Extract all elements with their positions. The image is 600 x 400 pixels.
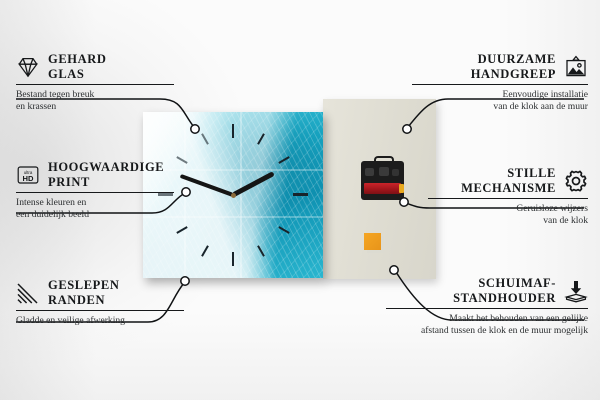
feature-description: en krassen <box>16 101 174 112</box>
ultra-hd-icon: ultra HD <box>16 163 40 187</box>
leader-dot-schuimaf-standhouder <box>390 266 398 274</box>
feature-title: GESLEPEN <box>48 278 120 293</box>
foam-spacer-icon <box>564 279 588 303</box>
leader-dot-hoogwaardige-print <box>182 188 190 196</box>
gear-icon <box>564 169 588 193</box>
feature-title: DUURZAME <box>471 52 556 67</box>
svg-text:HD: HD <box>23 174 34 183</box>
feature-description: afstand tussen de klok en de muur mogeli… <box>386 325 588 336</box>
feature-description: Maakt het behouden van een gelijke <box>386 313 588 324</box>
feature-title: HOOGWAARDIGE <box>48 160 164 175</box>
beveled-edge-icon <box>16 281 40 305</box>
feature-description: van de klok aan de muur <box>412 101 588 112</box>
feature-title: MECHANISME <box>461 181 556 196</box>
feature-title: GEHARD <box>48 52 106 67</box>
feature-duurzame-handgreep[interactable]: DUURZAME HANDGREEP Eenvoudige installati… <box>412 52 588 112</box>
feature-description: Eenvoudige installatie <box>412 89 588 100</box>
feature-gehard-glas[interactable]: GEHARD GLAS Bestand tegen breuk en krass… <box>16 52 174 112</box>
feature-title: PRINT <box>48 175 164 190</box>
divider <box>412 84 588 85</box>
feature-description: Bestand tegen breuk <box>16 89 174 100</box>
feature-title: SCHUIMAF- <box>453 276 556 291</box>
feature-title: GLAS <box>48 67 106 82</box>
feature-title: RANDEN <box>48 293 120 308</box>
feature-hoogwaardige-print[interactable]: ultra HD HOOGWAARDIGE PRINT Intense kleu… <box>16 160 174 220</box>
feature-description: Gladde en veilige afwerking <box>16 315 184 326</box>
leader-dot-stille-mechanisme <box>400 198 408 206</box>
feature-description: Geruisloze wijzers <box>428 203 588 214</box>
feature-schuimaf-standhouder[interactable]: SCHUIMAF- STANDHOUDER Maakt het behouden… <box>386 276 588 336</box>
divider <box>16 310 184 311</box>
infographic-canvas: GEHARD GLAS Bestand tegen breuk en krass… <box>0 0 600 400</box>
feature-description: Intense kleuren en <box>16 197 174 208</box>
feature-title: STILLE <box>461 166 556 181</box>
feature-geslepen-randen[interactable]: GESLEPEN RANDEN Gladde en veilige afwerk… <box>16 278 184 327</box>
leader-dot-duurzame-handgreep <box>403 125 411 133</box>
diamond-icon <box>16 55 40 79</box>
divider <box>16 192 174 193</box>
divider <box>428 198 588 199</box>
feature-title: HANDGREEP <box>471 67 556 82</box>
feature-description: van de klok <box>428 215 588 226</box>
feature-stille-mechanisme[interactable]: STILLE MECHANISME Geruisloze wijzers van… <box>428 166 588 226</box>
divider <box>386 308 588 309</box>
feature-title: STANDHOUDER <box>453 291 556 306</box>
picture-frame-icon <box>564 55 588 79</box>
divider <box>16 84 174 85</box>
feature-description: een duidelijk beeld <box>16 209 174 220</box>
leader-dot-gehard-glas <box>191 125 199 133</box>
